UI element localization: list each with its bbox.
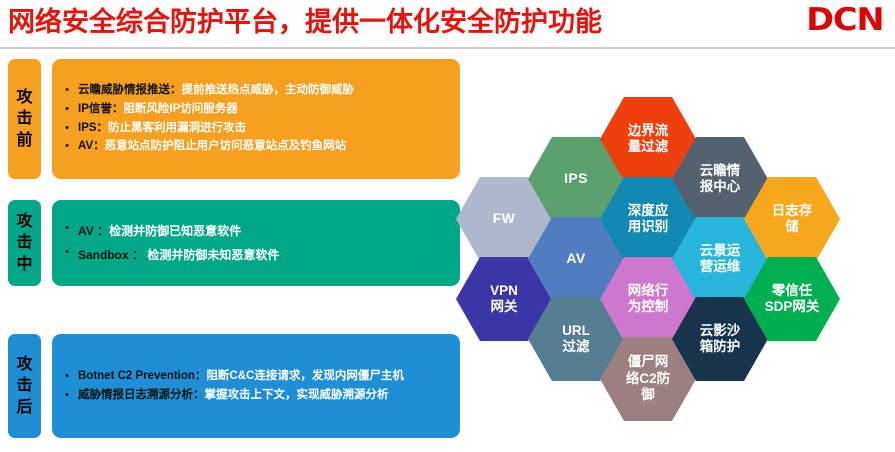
bullet-description: 掌握攻击上下文，实现威胁溯源分析: [205, 389, 389, 401]
bullet-item: •威胁情报日志溯源分析：掌握攻击上下文，实现威胁溯源分析: [56, 387, 452, 405]
bullet-text: AV：恶意站点防护阻止用户访问恶意站点及钓鱼网站: [78, 138, 452, 156]
bullet-description: 阻断C&C连接请求，发现内网僵尸主机: [206, 370, 403, 382]
bullet-description: 检测并防御已知恶意软件: [109, 224, 241, 238]
hex-label: FW: [493, 210, 516, 227]
phase-tab-char: 攻: [16, 211, 32, 232]
bullet-term: Sandbox ：: [78, 248, 144, 262]
bullet-item: •IPS：防止黑客利用漏洞进行攻击: [56, 120, 452, 138]
hex-label: 零信任SDP网关: [765, 283, 820, 316]
phase-group-post-attack: 攻击后 •Botnet C2 Prevention：阻断C&C连接请求，发现内网…: [8, 334, 460, 438]
bullet-dot-icon: •: [56, 220, 78, 237]
bullet-dot-icon: •: [56, 120, 78, 137]
phase-body-pre-attack: •云瞻威胁情报推送：提前推送热点威胁，主动防御威胁•IP信誉：阻断风险IP访问服…: [52, 59, 460, 179]
bullet-item: •Botnet C2 Prevention：阻断C&C连接请求，发现内网僵尸主机: [56, 368, 452, 386]
phase-tab-label: 攻击后: [16, 354, 32, 417]
bullet-item: •Sandbox ： 检测并防御未知恶意软件: [56, 244, 452, 267]
phase-tab-char: 前: [16, 130, 32, 151]
capability-hex-cluster: FWVPN网关IPSAVURL过滤边界流量过滤深度应用识别网络行为控制僵尸网络C…: [455, 56, 895, 452]
bullet-dot-icon: •: [56, 244, 78, 261]
bullet-item: •云瞻威胁情报推送：提前推送热点威胁，主动防御威胁: [56, 82, 452, 100]
phase-tab-label: 攻击中: [16, 211, 32, 274]
phase-body-post-attack: •Botnet C2 Prevention：阻断C&C连接请求，发现内网僵尸主机…: [52, 334, 460, 438]
dcn-logo: DCN: [806, 1, 883, 39]
phase-body-during-attack: •AV ：检测并防御已知恶意软件•Sandbox ： 检测并防御未知恶意软件: [52, 200, 460, 286]
page-header: 网络安全综合防护平台，提供一体化安全防护功能 DCN: [0, 0, 895, 49]
bullet-term: AV：: [78, 140, 105, 152]
bullet-term: IPS：: [78, 122, 108, 134]
bullet-dot-icon: •: [56, 101, 78, 118]
bullet-text: Sandbox ： 检测并防御未知恶意软件: [78, 244, 452, 267]
bullet-dot-icon: •: [56, 82, 78, 99]
bullet-text: Botnet C2 Prevention：阻断C&C连接请求，发现内网僵尸主机: [78, 368, 452, 386]
hex-label: URL过滤: [562, 323, 590, 356]
phase-tab-char: 击: [16, 375, 32, 396]
bullet-description: 恶意站点防护阻止用户访问恶意站点及钓鱼网站: [105, 140, 347, 152]
bullet-term: AV ：: [78, 224, 109, 238]
bullet-item: •AV ：检测并防御已知恶意软件: [56, 220, 452, 243]
phase-tab-post-attack[interactable]: 攻击后: [8, 334, 41, 438]
phase-tab-char: 攻: [16, 354, 32, 375]
hex-label: VPN网关: [490, 283, 518, 316]
bullet-text: IPS：防止黑客利用漏洞进行攻击: [78, 120, 452, 138]
hex-label: IPS: [564, 170, 588, 187]
hex-label: 云瞻情报中心: [700, 163, 741, 196]
hex-label: 深度应用识别: [628, 203, 669, 236]
bullet-term: Botnet C2 Prevention：: [78, 370, 206, 382]
bullet-description: 防止黑客利用漏洞进行攻击: [108, 122, 246, 134]
hex-label: 日志存储: [772, 203, 813, 236]
bullet-dot-icon: •: [56, 387, 78, 404]
bullet-description: 提前推送热点威胁，主动防御威胁: [182, 84, 355, 96]
bullet-term: IP信誉：: [78, 103, 123, 115]
bullet-text: IP信誉：阻断风险IP访问服务器: [78, 101, 452, 119]
bullet-description: 阻断风险IP访问服务器: [123, 103, 237, 115]
bullet-term: 威胁情报日志溯源分析：: [78, 389, 205, 401]
bullet-text: 威胁情报日志溯源分析：掌握攻击上下文，实现威胁溯源分析: [78, 387, 452, 405]
hex-label: AV: [566, 250, 585, 267]
bullet-description: 检测并防御未知恶意软件: [144, 248, 279, 262]
phase-tab-char: 后: [16, 397, 32, 418]
phase-tab-label: 攻击前: [16, 87, 32, 150]
phase-tab-char: 击: [16, 232, 32, 253]
phase-group-during-attack: 攻击中 •AV ：检测并防御已知恶意软件•Sandbox ： 检测并防御未知恶意…: [8, 200, 460, 286]
bullet-term: 云瞻威胁情报推送：: [78, 84, 182, 96]
bullet-text: AV ：检测并防御已知恶意软件: [78, 220, 452, 243]
hex-label: 网络行为控制: [628, 283, 669, 316]
hex-label: 边界流量过滤: [628, 123, 669, 156]
page-title: 网络安全综合防护平台，提供一体化安全防护功能: [8, 4, 602, 40]
phase-tab-char: 攻: [16, 87, 32, 108]
phase-tab-char: 击: [16, 108, 32, 129]
hex-label: 云影沙箱防护: [700, 323, 741, 356]
bullet-item: •IP信誉：阻断风险IP访问服务器: [56, 101, 452, 119]
hex-label: 云景运营运维: [700, 243, 741, 276]
bullet-dot-icon: •: [56, 368, 78, 385]
bullet-dot-icon: •: [56, 138, 78, 155]
bullet-item: •AV：恶意站点防护阻止用户访问恶意站点及钓鱼网站: [56, 138, 452, 156]
phase-tab-char: 中: [16, 254, 32, 275]
bullet-text: 云瞻威胁情报推送：提前推送热点威胁，主动防御威胁: [78, 82, 452, 100]
phase-tab-pre-attack[interactable]: 攻击前: [8, 59, 41, 179]
phase-tab-during-attack[interactable]: 攻击中: [8, 200, 41, 286]
hex-label: 僵尸网络C2防御: [626, 354, 670, 403]
phase-group-pre-attack: 攻击前 •云瞻威胁情报推送：提前推送热点威胁，主动防御威胁•IP信誉：阻断风险I…: [8, 59, 460, 179]
